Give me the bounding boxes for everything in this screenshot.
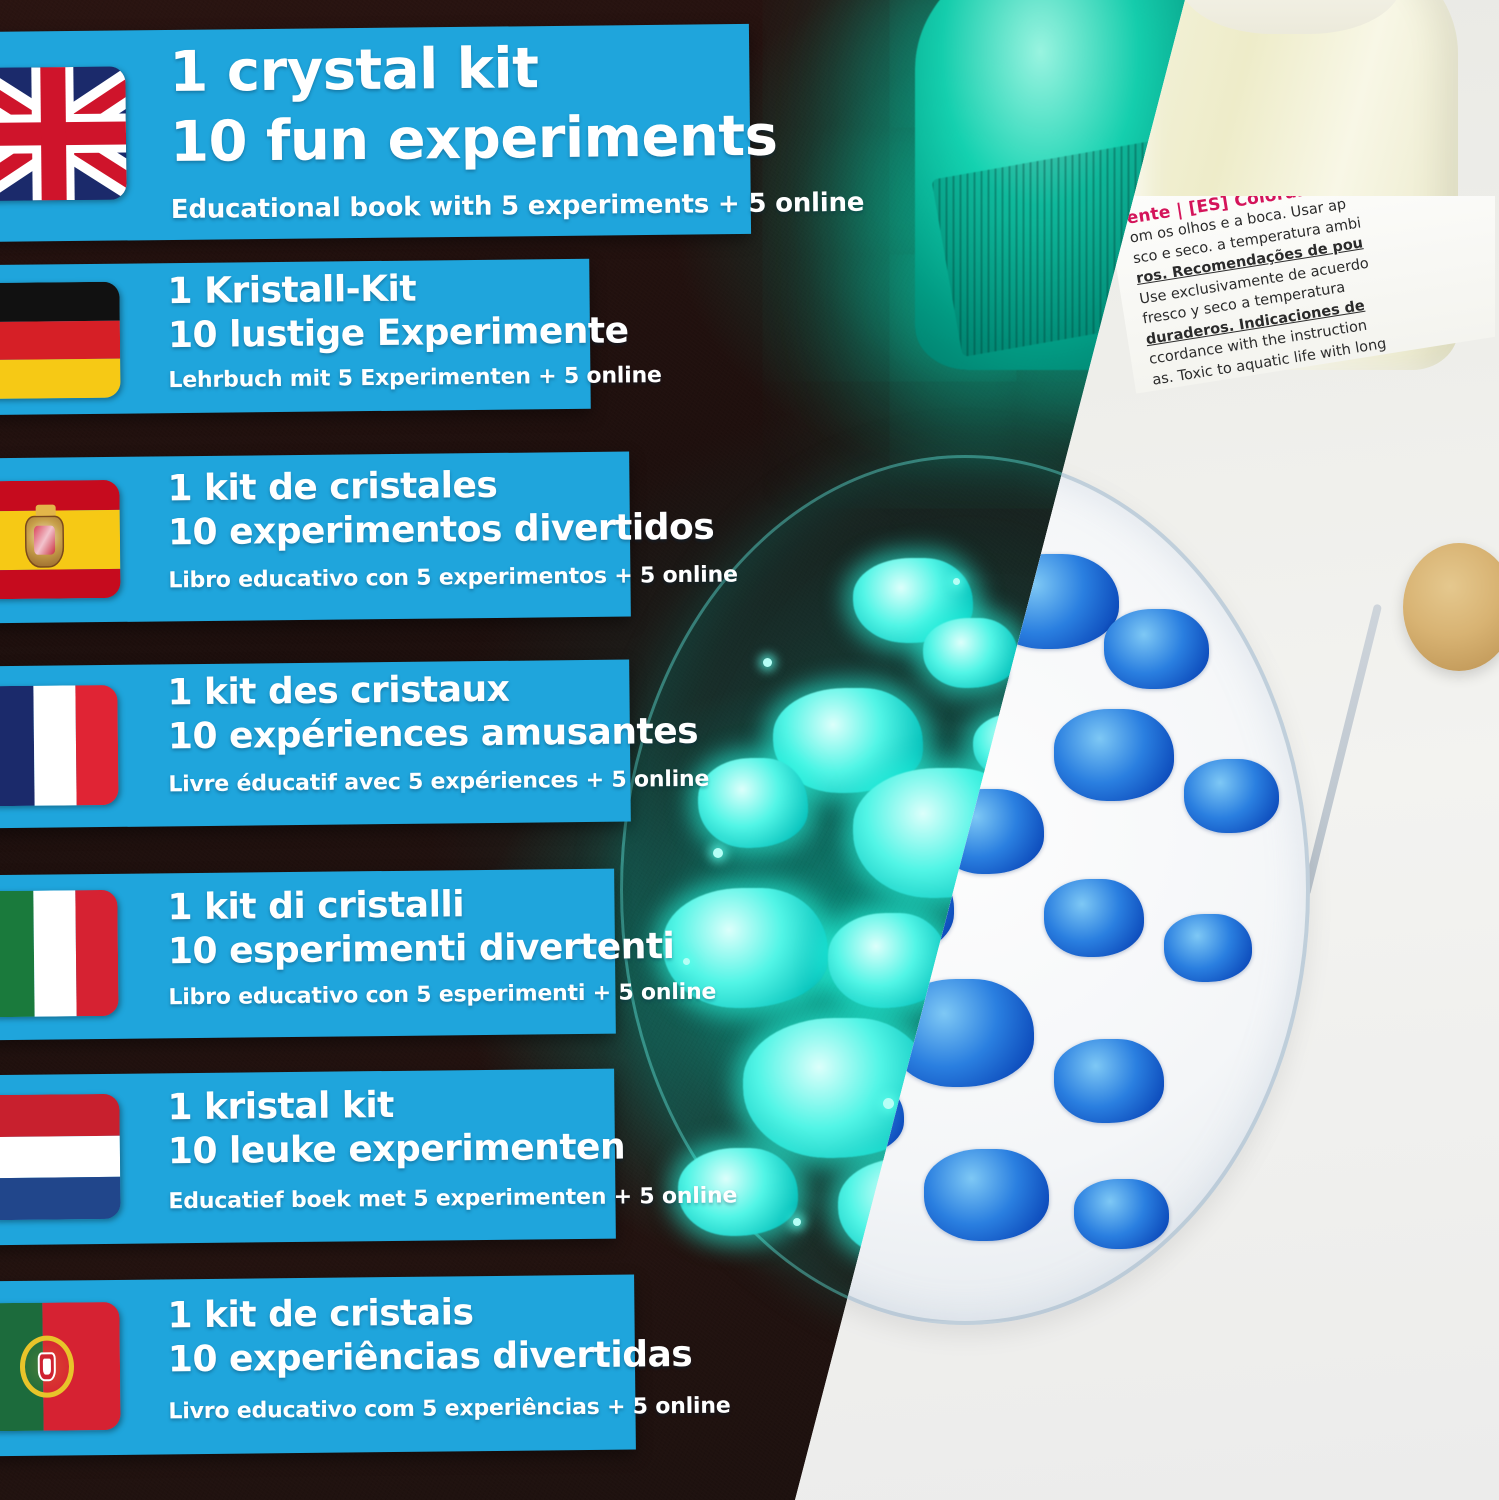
- spain-crown: [35, 504, 56, 516]
- banner-line2: 10 expériences amusantes: [168, 711, 699, 758]
- banner-line1: 1 Kristall-Kit: [167, 269, 416, 313]
- banner-line1: 1 kit de cristais: [167, 1292, 473, 1336]
- spain-coat-of-arms: [25, 516, 64, 568]
- flag-uk: [0, 66, 127, 200]
- language-banner-portuguese: 1 kit de cristais 10 experiências divert…: [0, 1275, 636, 1457]
- banner-line3: Lehrbuch mit 5 Experimenten + 5 online: [168, 363, 662, 393]
- bottle-cap: [1180, 0, 1402, 34]
- flag-italy: [0, 890, 119, 1017]
- portugal-armillary-sphere: [20, 1336, 74, 1398]
- banner-line1: 1 kit de cristales: [167, 465, 497, 509]
- language-banner-dutch: 1 kristal kit 10 leuke experimenten Educ…: [0, 1069, 616, 1246]
- flag-netherlands: [0, 1094, 121, 1220]
- banner-line2: 10 lustige Experimente: [168, 310, 629, 356]
- product-image: ente | [ES] Colorante Fotolum om os olho…: [0, 0, 1499, 1500]
- banner-line1: 1 kristal kit: [167, 1085, 394, 1128]
- banner-line1: 1 crystal kit: [169, 36, 539, 105]
- banner-line2: 10 experimentos divertidos: [168, 507, 715, 554]
- banner-line2: 10 fun experiments: [170, 104, 778, 175]
- banner-line2: 10 leuke experimenten: [168, 1127, 626, 1173]
- bottle-label: ente | [ES] Colorante Fotolum om os olho…: [1105, 196, 1495, 406]
- banner-line1: 1 kit di cristalli: [167, 884, 464, 928]
- language-banner-french: 1 kit des cristaux 10 expériences amusan…: [0, 660, 631, 829]
- flag-portugal: [0, 1302, 121, 1431]
- flag-france: [0, 685, 119, 806]
- language-banner-english: 1 crystal kit 10 fun experiments Educati…: [0, 24, 751, 242]
- language-banner-italian: 1 kit di cristalli 10 esperimenti divert…: [0, 869, 616, 1041]
- banner-line2: 10 esperimenti divertenti: [168, 926, 675, 972]
- banner-line2: 10 experiências divertidas: [168, 1334, 693, 1380]
- flag-spain: [0, 480, 121, 599]
- banner-line1: 1 kit des cristaux: [167, 669, 509, 714]
- language-banner-german: 1 Kristall-Kit 10 lustige Experimente Le…: [0, 259, 591, 415]
- portugal-shield: [38, 1352, 57, 1381]
- flag-germany: [0, 282, 121, 399]
- language-banner-spanish: 1 kit de cristales 10 experimentos diver…: [0, 452, 631, 624]
- banner-line3: Livre éducatif avec 5 expériences + 5 on…: [168, 767, 709, 798]
